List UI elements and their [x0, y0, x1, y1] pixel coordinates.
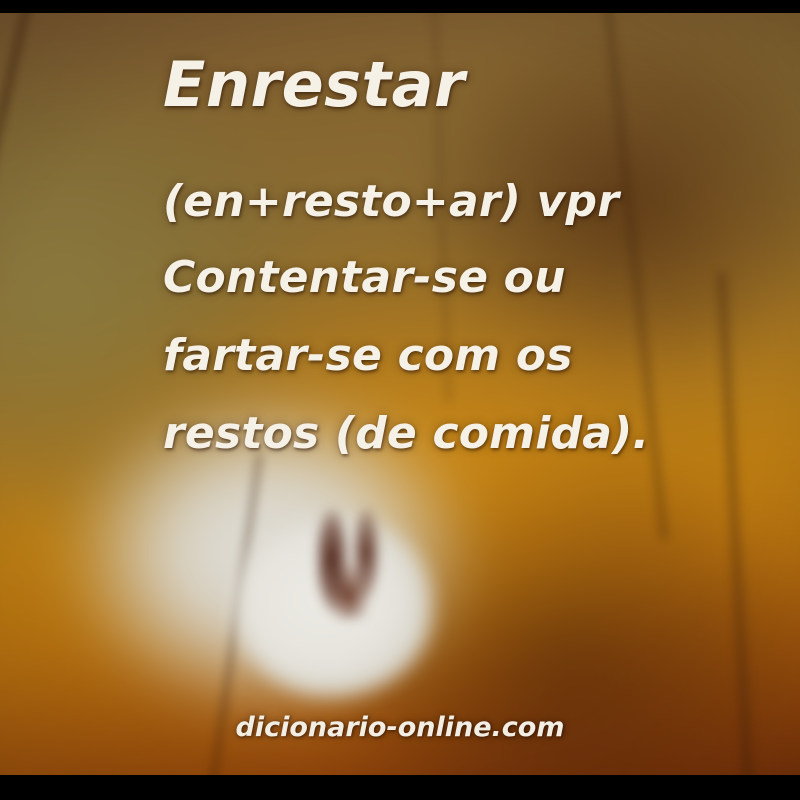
- dictionary-entry-card: Enrestar (en+resto+ar) vpr Contentar-se …: [0, 0, 800, 800]
- definition-line: (en+resto+ar) vpr: [163, 176, 619, 227]
- site-watermark: dicionario-online.com: [0, 712, 800, 743]
- letterbox-bar-bottom: [0, 775, 800, 800]
- definition-line: restos (de comida).: [163, 408, 649, 459]
- letterbox-bar-top: [0, 0, 800, 13]
- definition-line: Contentar-se ou: [163, 252, 566, 303]
- definition-line: fartar-se com os: [163, 330, 573, 381]
- page-title: Enrestar: [163, 48, 465, 121]
- text-layer: Enrestar (en+resto+ar) vpr Contentar-se …: [0, 0, 800, 800]
